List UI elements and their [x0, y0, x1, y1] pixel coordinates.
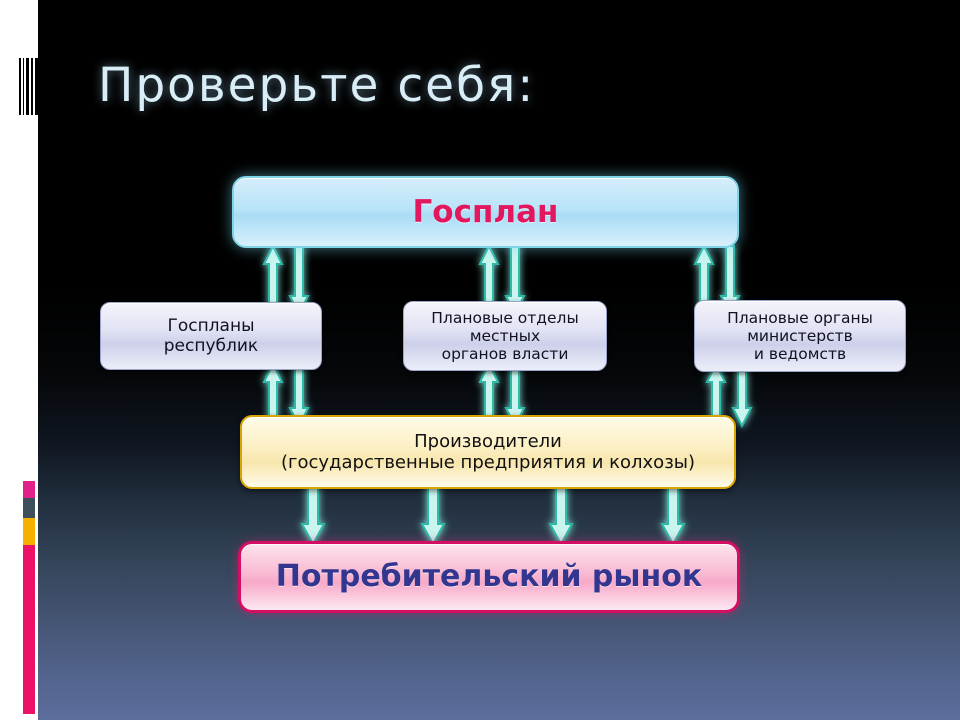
barcode-decoration-icon [19, 58, 39, 115]
node-republics[interactable]: Госпланы республик [100, 302, 322, 370]
node-local-authorities-line-2: местных [431, 327, 578, 345]
node-gosplan-label: Госплан [403, 194, 569, 231]
arrow-down-producers-to-market-4 [660, 484, 686, 546]
node-ministries-line-3: и ведомств [727, 345, 873, 363]
node-ministries-line-1: Плановые органы [727, 309, 873, 327]
page-title: Проверьте себя: [98, 58, 535, 113]
presentation-slide: Проверьте себя: [0, 0, 960, 720]
color-bar-segment-slate [23, 498, 35, 518]
node-local-authorities[interactable]: Плановые отделы местных органов власти [403, 301, 607, 371]
node-republics-line-1: Госпланы [164, 316, 258, 336]
node-gosplan[interactable]: Госплан [232, 176, 739, 248]
arrow-down-producers-to-market-2 [420, 484, 446, 546]
node-local-authorities-line-3: органов власти [431, 345, 578, 363]
color-bar-segment-pink-top [23, 481, 35, 498]
node-local-authorities-label: Плановые отделы местных органов власти [421, 309, 588, 364]
node-local-authorities-line-1: Плановые отделы [431, 309, 578, 327]
node-consumer-market-label: Потребительский рынок [266, 559, 713, 594]
arrow-down-producers-to-market-1 [300, 484, 326, 546]
node-producers[interactable]: Производители (государственные предприят… [240, 415, 736, 489]
arrow-down-producers-to-market-3 [548, 484, 574, 546]
node-republics-label: Госпланы республик [154, 316, 268, 356]
node-republics-line-2: республик [164, 336, 258, 356]
left-color-bar [23, 481, 35, 714]
color-bar-segment-amber [23, 518, 35, 545]
node-ministries-label: Плановые органы министерств и ведомств [717, 309, 883, 364]
node-producers-label: Производители (государственные предприят… [271, 431, 705, 473]
color-bar-segment-magenta [23, 545, 35, 714]
node-consumer-market[interactable]: Потребительский рынок [238, 541, 740, 613]
node-producers-line-1: Производители [281, 431, 695, 452]
node-ministries-line-2: министерств [727, 327, 873, 345]
node-ministries[interactable]: Плановые органы министерств и ведомств [694, 300, 906, 372]
node-producers-line-2: (государственные предприятия и колхозы) [281, 452, 695, 473]
